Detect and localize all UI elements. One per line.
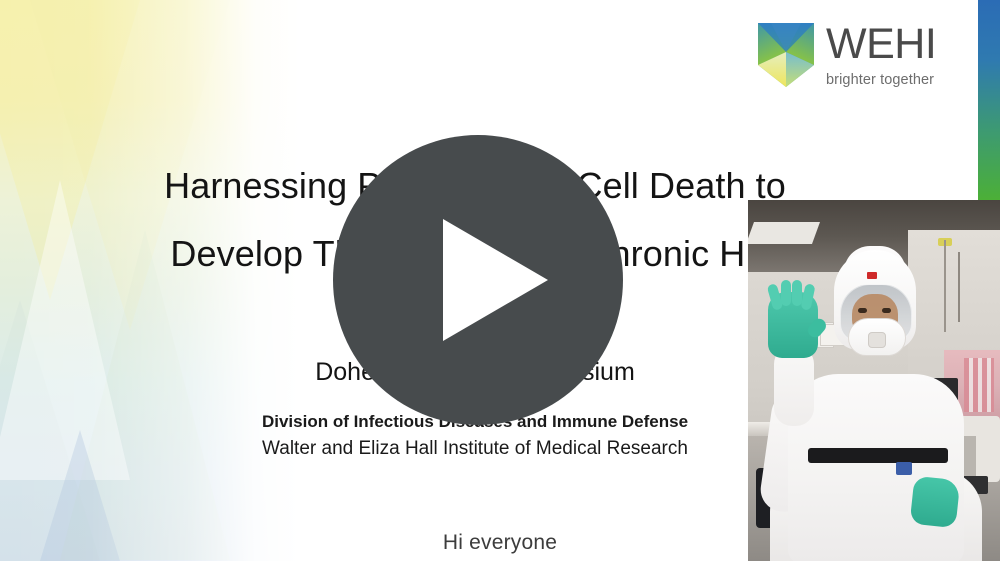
play-button[interactable] [333, 135, 623, 425]
wehi-tagline: brighter together [826, 73, 936, 88]
prism-triangle-6 [0, 300, 100, 561]
reagent-tubes [964, 358, 994, 412]
mask-valve [868, 332, 886, 348]
person-glove-right [910, 476, 961, 529]
person-waving-arm [774, 346, 814, 426]
ceiling-light-panel [748, 222, 820, 244]
person-finger-3 [792, 280, 802, 306]
play-triangle-icon [443, 219, 548, 341]
hanging-cord [944, 240, 946, 332]
caption-text: Hi everyone [0, 531, 1000, 555]
person-finger-2 [781, 280, 791, 306]
wehi-wordmark-block: WEHI brighter together [826, 23, 936, 88]
wehi-shield-icon [757, 22, 815, 88]
person-eye-right [882, 308, 891, 313]
presenter-webcam-feed [748, 200, 1000, 561]
wehi-wordmark: WEHI [826, 23, 936, 66]
right-accent-bar [978, 0, 1000, 201]
video-player[interactable]: WEHI brighter together Harnessing Progra… [0, 0, 1000, 561]
slide-institute: Walter and Eliza Hall Institute of Medic… [95, 438, 855, 460]
person-belt [808, 448, 948, 463]
hanging-cord-2 [958, 252, 960, 322]
wehi-logo: WEHI brighter together [757, 22, 936, 88]
person-belt-buckle [896, 462, 912, 475]
person-eye-left [858, 308, 867, 313]
hood-brand-mark [867, 272, 877, 279]
